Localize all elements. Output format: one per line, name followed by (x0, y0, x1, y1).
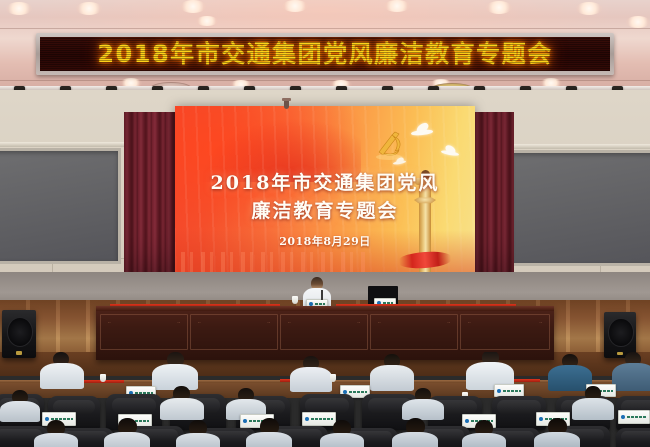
projection-screen: 2018年市交通集团党风 廉洁教育专题会 2018年8月29日 (175, 106, 475, 278)
led-banner-text: 2018年市交通集团党风廉洁教育专题会 (97, 42, 552, 66)
attendee (370, 354, 414, 390)
curtain-right (474, 112, 514, 298)
attendee-torso (392, 432, 438, 447)
dove-icon (393, 158, 407, 167)
downlight (626, 16, 650, 28)
downlight (384, 0, 410, 12)
microphone (321, 290, 323, 300)
podium-panel (190, 314, 278, 350)
podium-panel (280, 314, 368, 350)
attendee (466, 352, 514, 388)
downlight (486, 1, 512, 14)
attendee (320, 420, 364, 447)
attendee (0, 390, 40, 420)
attendee-torso (402, 399, 444, 420)
attendee-torso (290, 367, 332, 392)
downlight (576, 2, 602, 15)
podium-top-edge (96, 306, 554, 311)
attendee (392, 418, 438, 447)
curtain-left (124, 112, 176, 298)
dove-icon (411, 124, 435, 140)
floor-speaker-left (2, 310, 36, 358)
downlight (282, 0, 308, 12)
led-banner-screen: 2018年市交通集团党风廉洁教育专题会 (40, 37, 610, 71)
downlight (76, 2, 102, 15)
attendee (290, 356, 332, 390)
ceiling-seam (0, 28, 650, 29)
attendee-torso (34, 433, 78, 447)
audience-seat (616, 428, 650, 447)
podium-panel (100, 314, 188, 350)
attendee-torso (104, 432, 150, 447)
screen-title-line-2: 廉洁教育专题会 (175, 196, 475, 223)
attendee-torso (572, 398, 614, 420)
downlight (196, 16, 218, 26)
attendee (152, 352, 198, 388)
name-card (618, 410, 650, 424)
attendee-torso (160, 398, 204, 420)
attendee-torso (176, 433, 220, 447)
attendee-torso (246, 432, 292, 447)
downlight (6, 2, 32, 15)
screen-date: 2018年8月29日 (175, 233, 475, 249)
attendee (40, 352, 84, 388)
fire-sprinkler-icon (284, 100, 289, 109)
screen-title-line-1: 2018年市交通集团党风 (175, 168, 475, 195)
podium-panel (370, 314, 458, 350)
attendee-torso (0, 401, 40, 422)
attendee (612, 352, 650, 390)
attendee (534, 418, 580, 447)
photograph-scene: 2018年市交通集团党风廉洁教育专题会 (0, 0, 650, 447)
attendee-torso (612, 363, 650, 391)
attendee (34, 420, 78, 447)
panel-trim (0, 142, 124, 147)
party-emblem-icon (372, 130, 406, 160)
attendee-torso (534, 432, 580, 447)
panel-trim (508, 144, 650, 149)
led-banner-frame: 2018年市交通集团党风廉洁教育专题会 (36, 33, 614, 75)
water-cup (292, 296, 298, 304)
attendee (176, 420, 220, 447)
attendee (462, 420, 506, 447)
downlight (180, 0, 206, 13)
attendee-torso (320, 433, 364, 447)
attendee (402, 388, 444, 418)
attendee (104, 418, 150, 447)
attendee-torso (462, 433, 506, 447)
water-cup (330, 374, 336, 382)
podium-panel (460, 314, 550, 350)
acoustic-panel-left (0, 148, 121, 264)
dove-icon (441, 146, 461, 160)
water-cup (100, 374, 106, 382)
acoustic-panel-right (508, 150, 650, 266)
attendee-torso (40, 363, 84, 389)
audience-seating (0, 352, 650, 447)
attendee (160, 386, 204, 418)
attendee (246, 418, 292, 447)
attendee (572, 386, 614, 418)
